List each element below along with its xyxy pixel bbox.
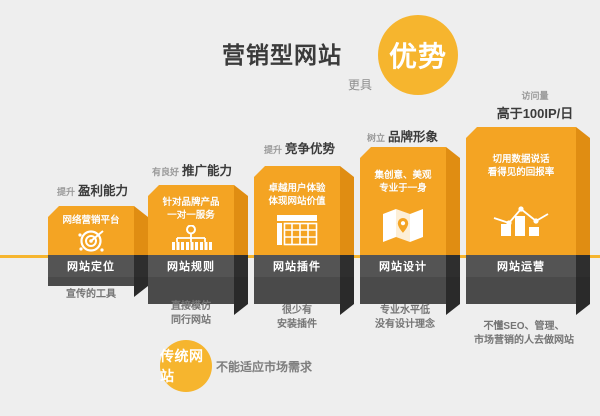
step-face-line1-5: 切用数据说话 [466,153,576,166]
callout-small-5: 访问量 [480,89,590,102]
callout-small-4: 树立 [367,133,385,143]
step-face-line1-1: 网络营销平台 [48,214,134,227]
callout-small-2: 有良好 [152,167,179,177]
step-band-side-3 [340,255,354,277]
step-face-side-1 [134,206,148,255]
step-face-2: 针对品牌产品 一对一服务 [148,185,234,255]
bar-chart-icon [466,197,576,237]
caption-line1-5: 不懂SEO、管理、 [458,320,590,334]
step-face-side-3 [340,166,354,255]
step-band-side-4 [446,255,460,277]
step-face-side-5 [576,127,590,255]
advantage-badge: 优势 [378,15,458,95]
step-band-3: 网站插件 [254,255,340,277]
step-face-3: 卓越用户体验 体现网站价值 [254,166,340,255]
step-face-line1-4: 集创意、美观 [360,169,446,182]
step-face-5: 切用数据说话 看得见的回报率 [466,127,576,255]
step-band-label-3: 网站插件 [273,258,321,274]
step-pedestal-4 [360,277,446,304]
step-pedestal-5 [466,277,576,304]
org-chart-icon [148,225,234,251]
caption-step-3: 很少有 安装插件 [247,304,347,332]
step-face-line2-3: 体现网站价值 [254,195,340,208]
traditional-site-note: 不能适应市场需求 [216,358,312,375]
caption-step-2: 直接模仿 同行网站 [141,300,241,328]
callout-big-1: 盈利能力 [78,184,128,198]
traditional-site-label: 传统网站 [160,346,212,386]
step-band-1: 网站定位 [48,255,134,277]
caption-line2-3: 安装插件 [247,318,347,332]
step-band-side-5 [576,255,590,277]
step-band-label-2: 网站规则 [167,258,215,274]
step-face-4: 集创意、美观 专业于一身 [360,147,446,255]
step-face-line1-3: 卓越用户体验 [254,182,340,195]
caption-line1-2: 直接模仿 [141,300,241,314]
step-pedestal-1 [48,277,134,286]
step-face-side-2 [234,185,248,255]
caption-step-5: 不懂SEO、管理、 市场营销的人去做网站 [458,320,590,348]
step-band-label-5: 网站运营 [497,258,545,274]
caption-line1-1: 宣传的工具 [41,288,141,302]
step-band-label-4: 网站设计 [379,258,427,274]
callout-big-2: 推广能力 [182,164,232,178]
callout-big-4: 品牌形象 [388,130,438,144]
page-title: 营销型网站 更具 优势 [222,14,458,96]
caption-step-1: 宣传的工具 [41,288,141,302]
step-pedestal-3 [254,277,340,304]
step-band-5: 网站运营 [466,255,576,277]
step-pedestal-side-5 [576,277,590,315]
caption-line2-4: 没有设计理念 [353,318,457,332]
infographic-canvas: 营销型网站 更具 优势 提升盈利能力 有良好推广能力 提升竞争优势 树立品牌形象… [0,0,600,416]
caption-line2-5: 市场营销的人去做网站 [458,334,590,348]
step-face-line2-2: 一对一服务 [148,209,234,222]
callout-step-2: 有良好推广能力 [152,160,232,180]
callout-step-1: 提升盈利能力 [57,180,128,200]
caption-line1-4: 专业水平低 [353,304,457,318]
grid-table-icon [254,214,340,246]
traditional-site-circle: 传统网站 [160,340,212,392]
callout-step-3: 提升竞争优势 [264,138,335,158]
step-face-side-4 [446,147,460,255]
title-sub-text: 更具 [348,76,372,96]
step-band-label-1: 网站定位 [67,258,115,274]
title-main-text: 营销型网站 [222,44,342,67]
step-face-line1-2: 针对品牌产品 [148,196,234,209]
map-icon [360,207,446,243]
caption-line1-3: 很少有 [247,304,347,318]
traditional-site-badge: 传统网站 不能适应市场需求 [160,340,312,392]
callout-small-3: 提升 [264,145,282,155]
caption-step-4: 专业水平低 没有设计理念 [353,304,457,332]
callout-step-4: 树立品牌形象 [367,126,438,146]
step-band-2: 网站规则 [148,255,234,277]
callout-big-5: 高于100IP/日 [480,103,590,122]
callout-big-3: 竞争优势 [285,142,335,156]
caption-line2-2: 同行网站 [141,314,241,328]
step-face-line2-5: 看得见的回报率 [466,166,576,179]
step-face-1: 网络营销平台 [48,206,134,255]
step-band-4: 网站设计 [360,255,446,277]
target-icon [48,228,134,254]
callout-small-1: 提升 [57,187,75,197]
step-band-side-1 [134,255,148,277]
advantage-badge-label: 优势 [389,35,447,75]
callout-step-5: 访问量 高于100IP/日 [480,89,590,122]
step-face-line2-4: 专业于一身 [360,182,446,195]
step-band-side-2 [234,255,248,277]
